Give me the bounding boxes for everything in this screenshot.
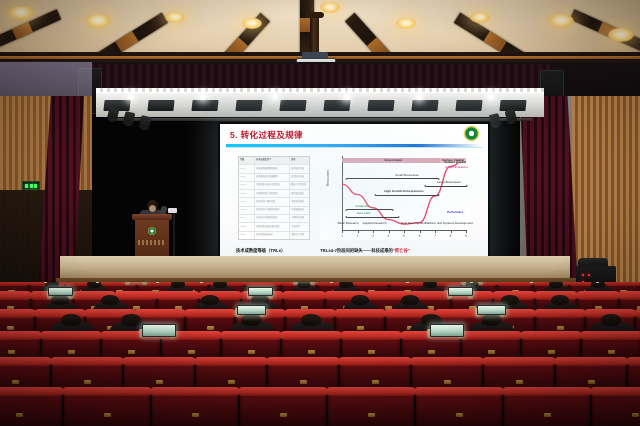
chart-x-tick-label: 2 — [357, 234, 359, 238]
table-cell: 部件集成验证 — [290, 190, 309, 197]
chart-range-arrow — [376, 195, 438, 196]
slide-title: 5. 转化过程及规律 — [230, 129, 303, 141]
chart-annotation: Academia — [355, 205, 368, 208]
chart-annotation: High Growth Entrepreneurs — [384, 190, 423, 193]
caption-right-highlight: "死亡谷" — [393, 248, 410, 253]
chart-annotation: Govt Labs — [357, 212, 371, 215]
audience-seating — [0, 282, 640, 426]
water-bottle — [406, 282, 409, 283]
chart-x-tick-label: 5 — [403, 234, 405, 238]
table-cell: 实际运行环境样机演示 — [255, 215, 290, 222]
auditorium-presentation-photo: 5. 转化过程及规律 等级技术成熟度定义说明TRL 1基本原理被观察和报告科学研… — [0, 0, 640, 426]
table-cell: TRL 8 — [239, 223, 255, 230]
water-bottle — [330, 282, 333, 283]
chart-range-arrow — [347, 178, 438, 179]
left-wall-upper — [0, 62, 92, 98]
wall-indicator-lights — [22, 181, 40, 190]
table-cell: 相关环境下系统样机演示 — [255, 207, 290, 214]
ceiling-downlight — [85, 14, 111, 28]
audience-member-head — [501, 295, 518, 305]
table-row: TRL 7实际运行环境样机演示工程样机试验 — [239, 215, 309, 223]
raised-hand — [461, 282, 466, 285]
slide-accent-bar-thin — [226, 147, 482, 148]
chart-annotation: Small Businesses — [395, 174, 419, 177]
chart-annotation: Large Businesses — [437, 181, 461, 184]
theater-seat — [0, 390, 62, 426]
presentation-slide: 5. 转化过程及规律 等级技术成熟度定义说明TRL 1基本原理被观察和报告科学研… — [220, 124, 488, 258]
ceiling-downlight — [396, 18, 416, 29]
chart-x-tick-label: 1 — [341, 234, 343, 238]
table-cell: 基本原理被观察和报告 — [255, 165, 290, 172]
chart-x-tick — [435, 230, 436, 233]
water-bottle — [96, 282, 99, 283]
audience-member-head — [51, 295, 68, 305]
table-header-cell: 说明 — [290, 157, 309, 164]
water-bottle — [470, 282, 473, 283]
table-cell: 科学研究开始 — [290, 165, 309, 172]
ceiling-downlight — [548, 14, 574, 28]
audience-phone-screen — [448, 287, 472, 296]
chart-x-tick — [404, 230, 405, 233]
theater-seat — [152, 390, 238, 426]
chart-annotation: Platform and Systems Development — [425, 222, 473, 225]
ceiling-downlight — [8, 6, 34, 20]
table-header-row: 等级技术成熟度定义说明 — [239, 157, 309, 165]
table-cell: TRL 2 — [239, 174, 255, 181]
table-cell: 实际系统成功运行 — [255, 232, 290, 239]
table-row: TRL 2技术概念和应用被阐明应用研究启动 — [239, 174, 309, 182]
truss-bulb — [200, 94, 206, 100]
chart-x-tick — [373, 230, 374, 233]
table-row: TRL 3关键功能分析与实验验证概念可行性验证 — [239, 182, 309, 190]
chart-band-label: Government — [384, 159, 402, 162]
stage-light-fixture — [455, 100, 482, 111]
chart-x-tick — [342, 230, 343, 233]
water-bottle — [530, 282, 533, 283]
audience-phone-screen — [248, 287, 272, 296]
chart-annotation: Basic Research — [338, 222, 359, 225]
raised-hand — [125, 282, 130, 285]
chart-x-tick-label: 9 — [465, 234, 467, 238]
raised-hand — [293, 282, 298, 285]
audience-member-head — [481, 314, 502, 326]
audience-phone-screen — [477, 305, 506, 315]
truss-bulb — [272, 94, 278, 100]
table-row: TRL 5相关环境下部件验证仿真环境测试 — [239, 198, 309, 206]
presenter-face — [149, 205, 156, 212]
chart-x-tick-label: 4 — [388, 234, 390, 238]
theater-seat — [504, 390, 590, 426]
chart-annotation: Applied Research — [363, 222, 387, 225]
table-cell: 应用研究启动 — [290, 174, 309, 181]
water-bottle — [156, 282, 159, 283]
podium-top-surface — [132, 214, 172, 220]
chart-x-tick — [389, 230, 390, 233]
table-header-cell: 技术成熟度定义 — [255, 157, 290, 164]
audience-phone-screen — [142, 324, 176, 336]
slide-caption-left: 技术成熟度等级（TRLs） — [236, 248, 285, 254]
theater-seat — [64, 390, 150, 426]
table-cell: 中试规模验证 — [290, 207, 309, 214]
stage-light-fixture — [279, 100, 306, 111]
table-cell: 概念可行性验证 — [290, 182, 309, 189]
table-row: TRL 8实际系统完成并通过鉴定产品定型 — [239, 223, 309, 231]
podium-small-emblem-icon — [148, 227, 156, 235]
table-row: TRL 4实验室环境下部件验证部件集成验证 — [239, 190, 309, 198]
chart-x-tick — [451, 230, 452, 233]
truss-bulb — [344, 94, 350, 100]
chart-x-tick — [420, 230, 421, 233]
chart-x-tick-label: 8 — [450, 234, 452, 238]
chart-x-tick — [358, 230, 359, 233]
audience-member-head — [61, 314, 82, 326]
chart-x-tick-label: 3 — [372, 234, 374, 238]
lighting-pipe — [112, 118, 532, 121]
chart-annotation: Venture Capital — [444, 161, 466, 164]
projection-screen: 5. 转化过程及规律 等级技术成熟度定义说明TRL 1基本原理被观察和报告科学研… — [218, 122, 490, 260]
stage-light-fixture — [147, 100, 174, 111]
slide-caption-right: TRLs4-7阶段间的缺失——科技成果的"死亡谷" — [320, 248, 410, 254]
audience-member-head — [241, 314, 262, 326]
theater-seat — [592, 390, 640, 426]
chart-range-arrow — [426, 186, 466, 187]
audience-member-head — [601, 314, 622, 326]
table-row: TRL 6相关环境下系统样机演示中试规模验证 — [239, 207, 309, 215]
ceiling-downlight — [608, 28, 634, 42]
audience-member-head — [101, 295, 118, 305]
audience-phone-screen — [430, 324, 464, 336]
table-cell: TRL 7 — [239, 215, 255, 222]
table-cell: 技术概念和应用被阐明 — [255, 174, 290, 181]
caption-right-prefix: TRLs4-7阶段间的缺失——科技成果的 — [320, 248, 393, 253]
ceiling-downlight — [242, 18, 262, 29]
valley-of-death-chart: Resources 123456789GovernmentVenture Cap… — [320, 154, 470, 240]
ceiling-downlight — [165, 12, 185, 23]
chart-funding-band: Government — [342, 158, 444, 163]
table-cell: TRL 1 — [239, 165, 255, 172]
truss-bulb — [416, 94, 422, 100]
chart-x-tick — [466, 230, 467, 233]
table-cell: TRL 4 — [239, 190, 255, 197]
chart-x-tick-label: 6 — [419, 234, 421, 238]
audience-member-head — [351, 295, 368, 305]
table-cell: 实际系统完成并通过鉴定 — [255, 223, 290, 230]
chart-annotation: Performers — [447, 211, 463, 214]
chart-range-arrow — [347, 217, 398, 218]
table-cell: TRL 6 — [239, 207, 255, 214]
trl-table: 等级技术成熟度定义说明TRL 1基本原理被观察和报告科学研究开始TRL 2技术概… — [238, 156, 310, 240]
theater-seat — [240, 390, 326, 426]
ceiling-downlight — [320, 2, 340, 13]
table-cell: 产品定型 — [290, 223, 309, 230]
chart-range-arrow — [347, 209, 392, 210]
table-cell: 批量生产应用 — [290, 232, 309, 239]
audience-member-head — [551, 295, 568, 305]
podium-nameplate — [138, 240, 166, 245]
ceiling-downlight — [470, 12, 490, 23]
chart-x-tick-label: 7 — [434, 234, 436, 238]
stage-light-fixture — [411, 100, 438, 111]
side-stage-light — [123, 111, 136, 126]
stage-light-fixture — [191, 100, 218, 111]
table-row: TRL 1基本原理被观察和报告科学研究开始 — [239, 165, 309, 173]
audience-member-head — [301, 314, 322, 326]
truss-bulb — [128, 94, 134, 100]
table-row: TRL 9实际系统成功运行批量生产应用 — [239, 232, 309, 239]
audience-member-head — [121, 314, 142, 326]
table-header-cell: 等级 — [239, 157, 255, 164]
water-bottle — [596, 282, 599, 283]
chart-annotation: Tech Development — [401, 222, 426, 225]
table-cell: 关键功能分析与实验验证 — [255, 182, 290, 189]
theater-seat — [416, 390, 502, 426]
table-cell: 仿真环境测试 — [290, 198, 309, 205]
audience-member-head — [201, 295, 218, 305]
projector-mount-pole — [310, 16, 319, 54]
audience-phone-screen — [48, 287, 72, 296]
stage-light-fixture — [235, 100, 262, 111]
audience-phone-screen — [237, 305, 266, 315]
audience-member-head — [401, 295, 418, 305]
microphone-icon — [168, 208, 177, 213]
table-cell: TRL 9 — [239, 232, 255, 239]
table-cell: 相关环境下部件验证 — [255, 198, 290, 205]
water-bottle — [200, 282, 203, 283]
theater-seat — [328, 390, 414, 426]
water-bottle — [44, 282, 47, 283]
table-cell: 工程样机试验 — [290, 215, 309, 222]
table-cell: TRL 3 — [239, 182, 255, 189]
table-cell: TRL 5 — [239, 198, 255, 205]
stage-light-fixture — [323, 100, 350, 111]
stage-light-fixture — [367, 100, 394, 111]
audience-member-head — [251, 295, 268, 305]
truss-bulb — [488, 94, 494, 100]
table-cell: 实验室环境下部件验证 — [255, 190, 290, 197]
chart-annotation: Angel Investors — [445, 166, 468, 169]
institution-logo-icon — [464, 126, 479, 141]
side-stage-light — [139, 115, 152, 130]
